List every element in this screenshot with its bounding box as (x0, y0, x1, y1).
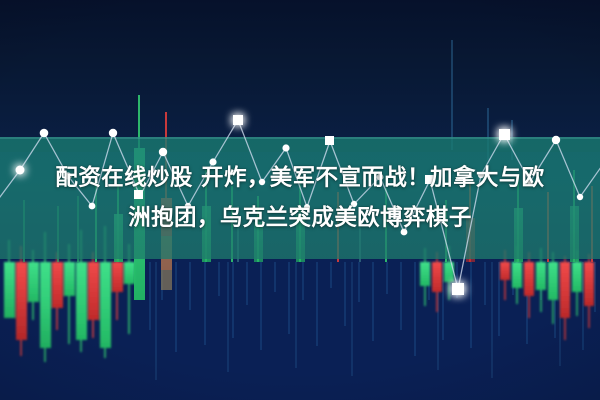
banner-image: 配资在线炒股 开炸，美军不宣而战！加拿大与欧 洲抱团，乌克兰突成美欧博弈棋子 (0, 0, 600, 400)
headline-line-2: 洲抱团，乌克兰突成美欧博弈棋子 (128, 198, 472, 238)
headline-block: 配资在线炒股 开炸，美军不宣而战！加拿大与欧 洲抱团，乌克兰突成美欧博弈棋子 (0, 137, 600, 259)
headline-line-1: 配资在线炒股 开炸，美军不宣而战！加拿大与欧 (55, 158, 544, 198)
